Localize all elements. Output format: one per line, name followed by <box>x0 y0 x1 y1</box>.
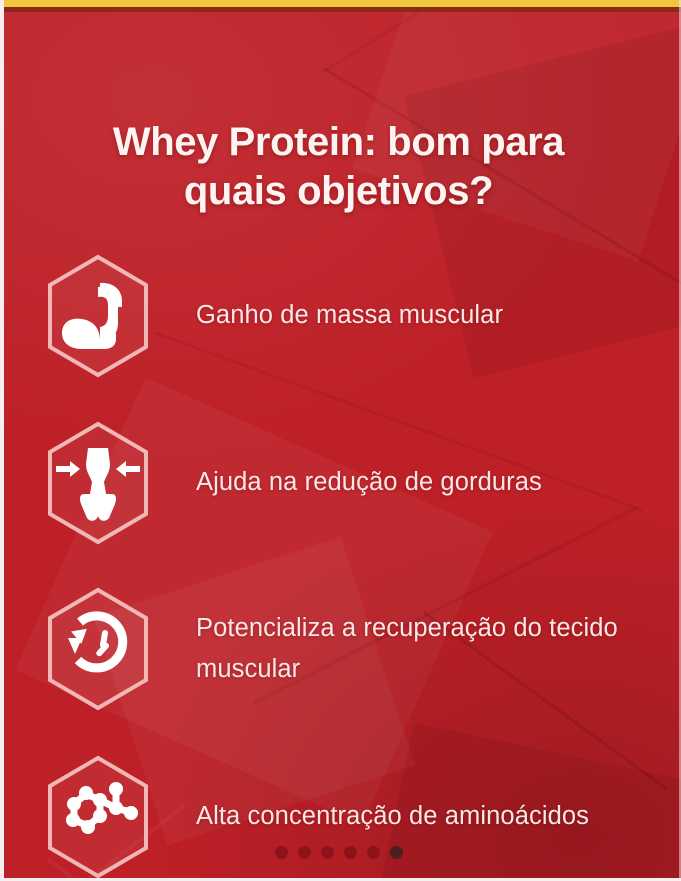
facet-seam-2 <box>321 11 628 74</box>
title-line-2: quais objetivos? <box>0 167 677 216</box>
title-line-1: Whey Protein: bom para <box>0 118 677 167</box>
benefit-row: Ajuda na redução de gorduras <box>0 415 677 551</box>
carousel-dot-active[interactable] <box>390 846 403 859</box>
carousel-dot[interactable] <box>321 846 334 859</box>
benefit-icon-cell <box>0 253 196 379</box>
benefit-label: Potencializa a recuperação do tecido mus… <box>196 608 677 691</box>
clock-restore-icon <box>42 586 154 712</box>
benefit-label: Alta concentração de aminoácidos <box>196 796 677 837</box>
top-seam-line <box>0 7 681 12</box>
carousel-dot[interactable] <box>275 846 288 859</box>
carousel-dot[interactable] <box>298 846 311 859</box>
benefit-row: Potencializa a recuperação do tecido mus… <box>0 581 677 717</box>
top-accent-bar <box>0 0 681 7</box>
carousel-dot[interactable] <box>344 846 357 859</box>
flexed-bicep-icon <box>42 253 154 379</box>
slide-title: Whey Protein: bom para quais objetivos? <box>0 118 677 216</box>
benefit-icon-cell <box>0 754 196 880</box>
benefit-row: Ganho de massa muscular <box>0 248 677 384</box>
benefit-icon-cell <box>0 420 196 546</box>
slim-waist-icon <box>42 420 154 546</box>
benefit-row: Alta concentração de aminoácidos <box>0 752 677 881</box>
carousel-dots[interactable] <box>0 846 677 859</box>
benefit-icon-cell <box>0 586 196 712</box>
molecule-icon <box>42 754 154 880</box>
benefit-label: Ajuda na redução de gorduras <box>196 462 677 503</box>
infographic-slide: Whey Protein: bom para quais objetivos? … <box>0 0 681 881</box>
left-edge-strip <box>0 0 4 881</box>
benefit-label: Ganho de massa muscular <box>196 295 677 336</box>
carousel-dot[interactable] <box>367 846 380 859</box>
